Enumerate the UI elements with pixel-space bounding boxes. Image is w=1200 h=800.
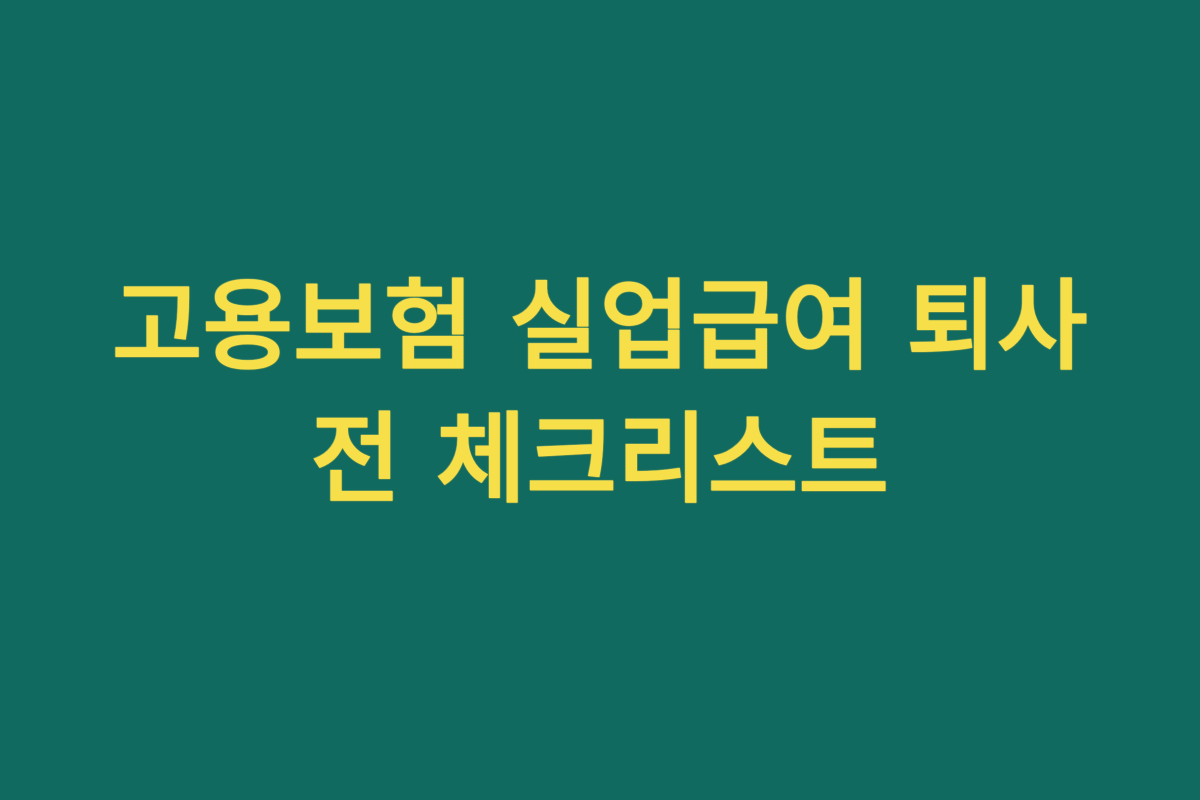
title-line-1: 고용보험 실업급여 퇴사 <box>112 261 1088 394</box>
page-title: 고용보험 실업급여 퇴사 전 체크리스트 <box>70 261 1130 527</box>
thumbnail-banner: 고용보험 실업급여 퇴사 전 체크리스트 <box>0 0 1200 800</box>
title-line-2: 전 체크리스트 <box>311 394 890 527</box>
